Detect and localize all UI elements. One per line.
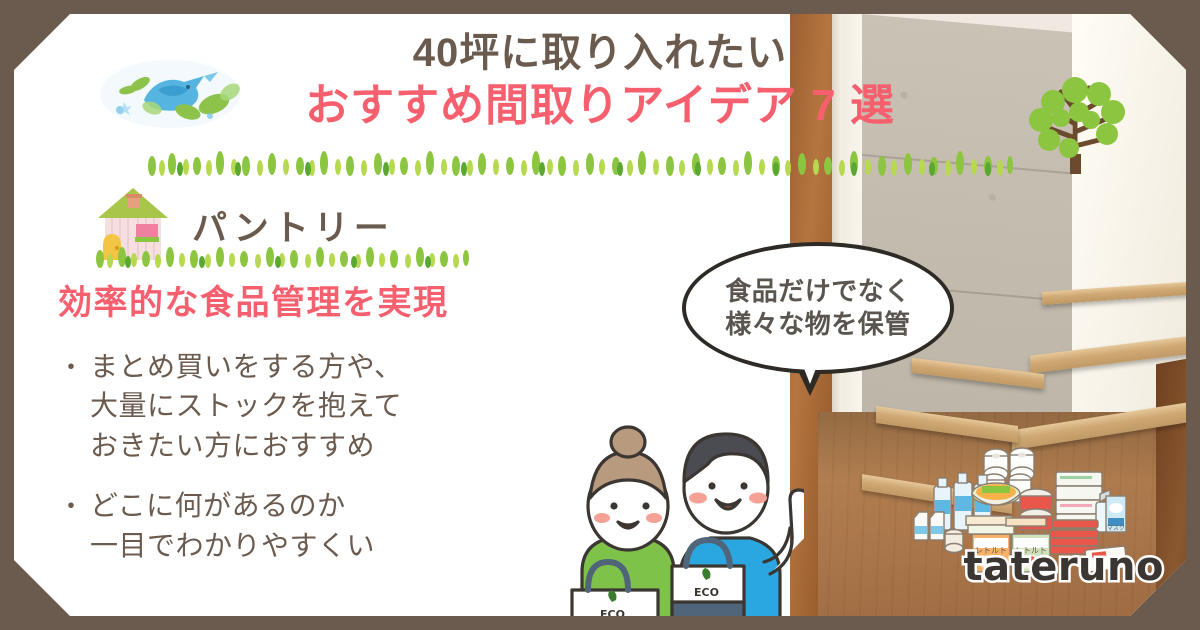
shopper-characters-illustration: ECO ECO xyxy=(554,402,804,616)
bullet-line: 大量にストックを抱えて xyxy=(90,386,403,426)
list-item: ・ まとめ買いをする方や、 大量にストックを抱えて おきたい方におすすめ xyxy=(58,347,574,466)
bullet-line: おきたい方におすすめ xyxy=(90,426,403,466)
outer-frame: 40坪に取り入れたい おすすめ間取りアイデア 7 選 xyxy=(0,0,1200,630)
page-title-line2: おすすめ間取りアイデア 7 選 xyxy=(14,79,1186,133)
bubble-line: 食品だけでなく xyxy=(725,275,911,308)
bullet-line: どこに何があるのか xyxy=(90,486,375,526)
list-item: ・ どこに何があるのか 一目でわかりやすくい xyxy=(58,486,574,566)
bubble-tail-inner xyxy=(800,358,820,384)
content-card: 40坪に取り入れたい おすすめ間取りアイデア 7 選 xyxy=(14,14,1186,616)
grass-divider xyxy=(142,150,1022,176)
eco-bag-label: ECO xyxy=(694,586,719,599)
brand-logo: tateruno xyxy=(963,544,1164,590)
bullet-text: どこに何があるのか 一目でわかりやすくい xyxy=(90,486,375,566)
eco-bag-label: ECO xyxy=(600,608,625,616)
bubble-text: 食品だけでなく 様々な物を保管 xyxy=(725,275,911,342)
man-shopper-pointing xyxy=(672,434,804,616)
bullet-marker: ・ xyxy=(58,347,84,466)
section-heading: パントリー xyxy=(192,200,394,251)
bullet-marker: ・ xyxy=(58,486,84,566)
bullet-line: まとめ買いをする方や、 xyxy=(90,347,403,387)
bullet-line: 一目でわかりやすくい xyxy=(90,526,375,566)
section-heading-row: パントリー xyxy=(14,184,574,264)
callout-bubble: 食品だけでなく 様々な物を保管 xyxy=(682,242,954,374)
bullet-text: まとめ買いをする方や、 大量にストックを抱えて おきたい方におすすめ xyxy=(90,347,403,466)
header: 40坪に取り入れたい おすすめ間取りアイデア 7 選 xyxy=(14,14,1186,133)
bullet-list: ・ まとめ買いをする方や、 大量にストックを抱えて おきたい方におすすめ ・ ど… xyxy=(14,347,574,566)
left-content-column: パントリー xyxy=(14,184,574,585)
woman-shopper xyxy=(572,427,674,616)
bubble-line: 様々な物を保管 xyxy=(725,308,911,341)
section-subtitle: 効率的な食品管理を実現 xyxy=(14,282,574,325)
bubble-body: 食品だけでなく 様々な物を保管 xyxy=(682,242,954,374)
goods-label-mask: マスク xyxy=(1107,525,1125,532)
grass-divider-small xyxy=(92,246,482,268)
page-title-line1: 40坪に取り入れたい xyxy=(14,28,1186,79)
